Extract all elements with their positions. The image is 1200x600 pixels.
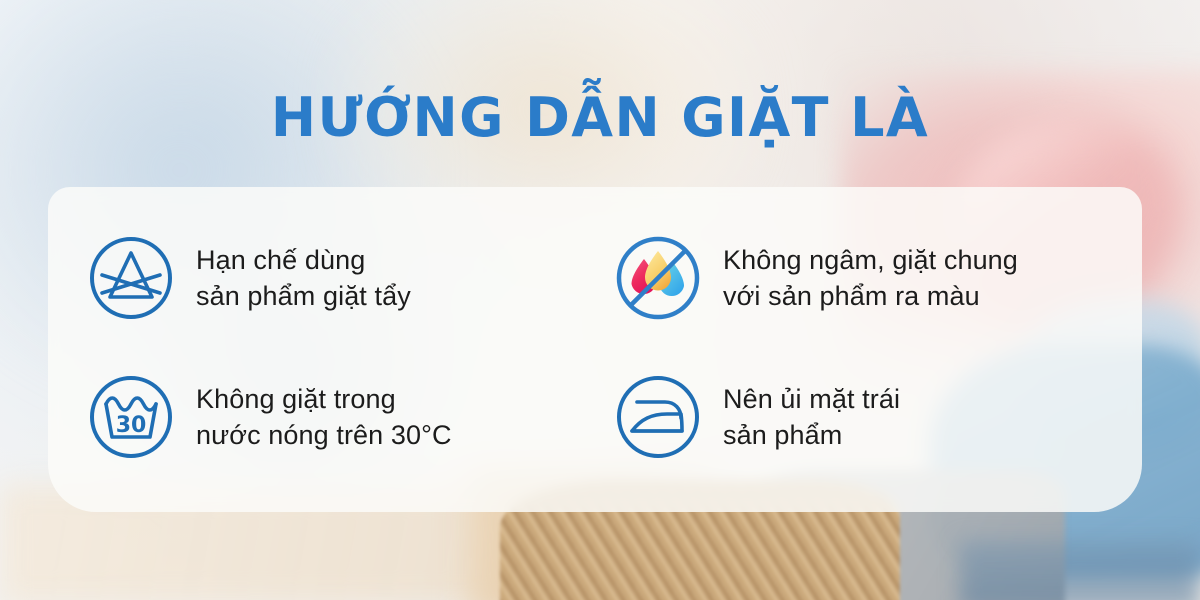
instruction-text-wash-temp: Không giặt trong nước nóng trên 30°C	[196, 381, 452, 453]
instruction-text-iron: Nên ủi mặt trái sản phẩm	[723, 381, 900, 453]
instructions-card: Hạn chế dùng sản phẩm giặt tẩy	[48, 187, 1142, 512]
no-bleach-triangle-icon	[88, 235, 174, 321]
no-color-bleed-droplets-icon	[615, 235, 701, 321]
instruction-item-do-not-bleach: Hạn chế dùng sản phẩm giặt tẩy	[74, 209, 589, 348]
wash-temperature-value: 30	[116, 413, 147, 438]
instruction-item-no-soak: Không ngâm, giặt chung với sản phẩm ra m…	[601, 209, 1116, 348]
instruction-item-iron: Nên ủi mặt trái sản phẩm	[601, 348, 1116, 487]
instruction-text-no-soak: Không ngâm, giặt chung với sản phẩm ra m…	[723, 242, 1018, 314]
page-title: HƯỚNG DẪN GIẶT LÀ	[0, 86, 1200, 149]
iron-icon	[615, 374, 701, 460]
wash-tub-30-icon: 30	[88, 374, 174, 460]
background-bottom-shadow	[960, 540, 1200, 600]
instructions-grid: Hạn chế dùng sản phẩm giặt tẩy	[48, 187, 1142, 512]
instruction-text-do-not-bleach: Hạn chế dùng sản phẩm giặt tẩy	[196, 242, 411, 314]
instruction-item-wash-temp: 30 Không giặt trong nước nóng trên 30°C	[74, 348, 589, 487]
